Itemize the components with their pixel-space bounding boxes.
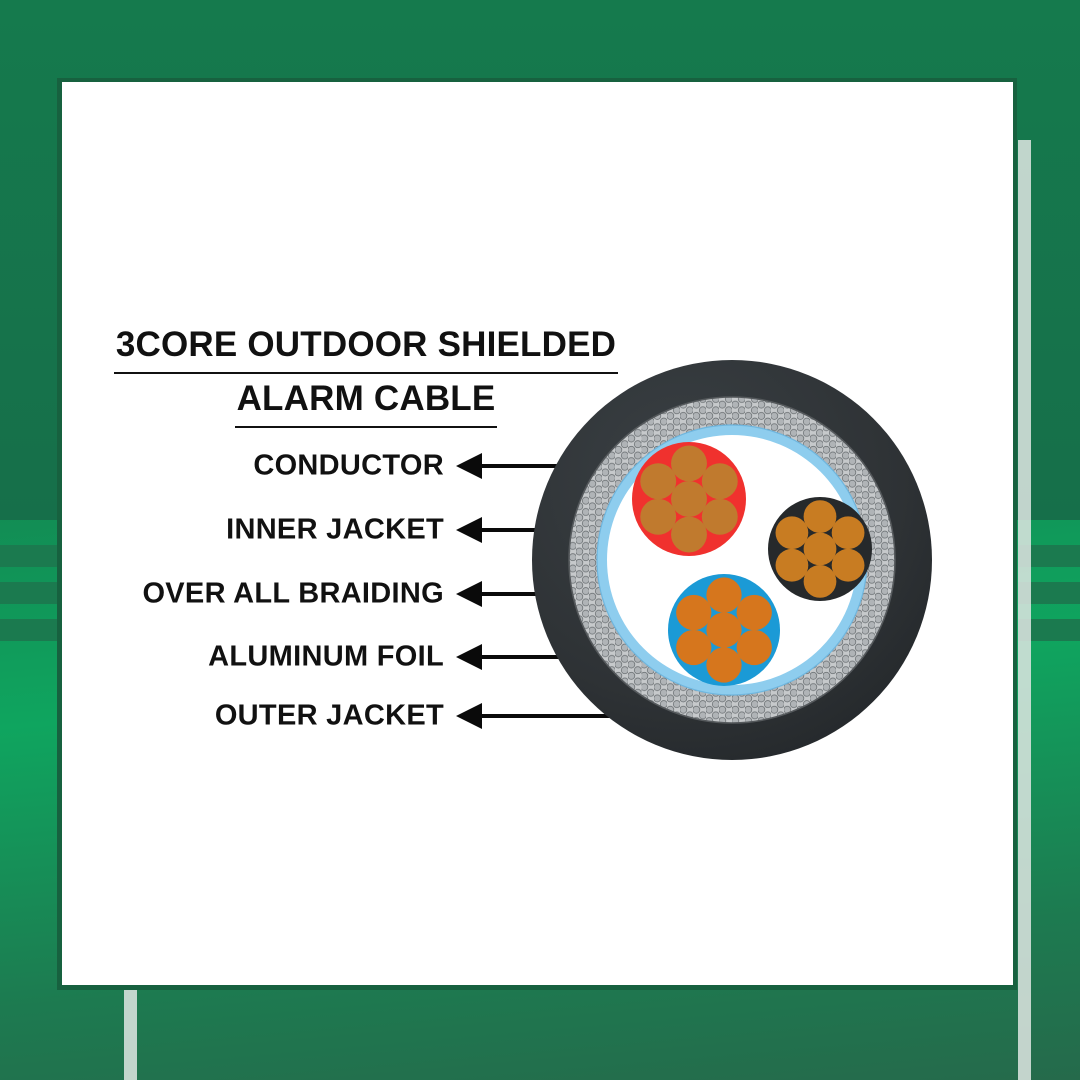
core-red-strand-7 (640, 463, 676, 499)
arrowhead-inner-jacket-icon (456, 517, 482, 543)
core-black-strand-1 (804, 533, 837, 566)
core-red-strand-4 (702, 499, 738, 535)
arrowhead-outer-jacket-icon (456, 703, 482, 729)
core-blue-strand-2 (706, 577, 741, 612)
callout-label-conductor: CONDUCTOR (44, 450, 444, 483)
core-blue-strand-1 (706, 612, 741, 647)
callout-label-aluminum-foil: ALUMINUM FOIL (44, 641, 444, 674)
arrowhead-conductor-icon (456, 453, 482, 479)
core-blue-strand-7 (676, 595, 711, 630)
core-black-strand-2 (804, 500, 837, 533)
core-red (632, 442, 746, 556)
core-red-strand-2 (671, 445, 707, 481)
core-black-strand-5 (804, 565, 837, 598)
page-title-line-2: ALARM CABLE (235, 374, 498, 428)
callout-label-inner-jacket: INNER JACKET (44, 514, 444, 547)
core-blue-strand-5 (706, 647, 741, 682)
cable-cross-section-diagram (532, 352, 932, 768)
vertical-guide-band-right (1018, 140, 1031, 1080)
core-black (768, 497, 872, 601)
callout-label-outer-jacket: OUTER JACKET (44, 700, 444, 733)
core-black-strand-7 (776, 516, 809, 549)
core-black-strand-6 (776, 549, 809, 582)
core-blue-strand-4 (737, 630, 772, 665)
core-blue (668, 574, 780, 686)
core-red-strand-6 (640, 499, 676, 535)
callout-label-over-all-braiding: OVER ALL BRAIDING (44, 578, 444, 611)
core-black-strand-3 (832, 516, 865, 549)
core-red-strand-3 (702, 463, 738, 499)
core-black-strand-4 (832, 549, 865, 582)
core-blue-strand-6 (676, 630, 711, 665)
core-blue-strand-3 (737, 595, 772, 630)
screenshot-root: 3CORE OUTDOOR SHIELDED ALARM CABLE CONDU… (0, 0, 1080, 1080)
arrowhead-over-all-braiding-icon (456, 581, 482, 607)
core-red-strand-5 (671, 517, 707, 553)
core-red-strand-1 (671, 481, 707, 517)
arrowhead-aluminum-foil-icon (456, 644, 482, 670)
